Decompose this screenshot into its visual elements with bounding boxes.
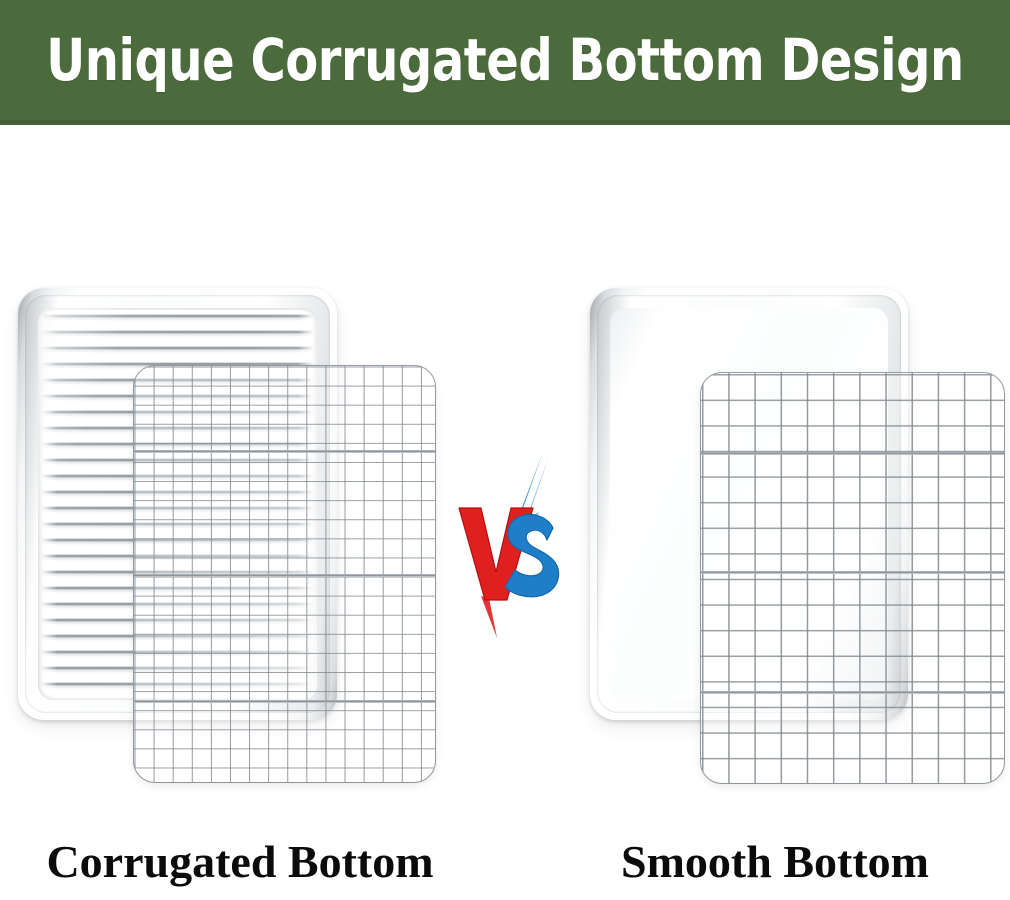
rack-support-bar bbox=[134, 450, 435, 453]
rack-support-bar bbox=[701, 691, 1004, 694]
header-banner: Unique Corrugated Bottom Design bbox=[0, 0, 1010, 125]
rack-mesh-right bbox=[701, 373, 1004, 783]
rack-support-bar bbox=[134, 700, 435, 703]
cooling-rack-fine bbox=[133, 365, 436, 783]
versus-logo bbox=[455, 450, 565, 640]
comparison-stage: Corrugated Bottom Smooth Bottom bbox=[0, 125, 1010, 900]
cooling-rack-coarse bbox=[700, 372, 1005, 784]
rack-support-bar bbox=[134, 574, 435, 577]
rack-support-bar bbox=[701, 452, 1004, 455]
rack-mesh-left bbox=[134, 366, 435, 782]
rack-support-bar bbox=[701, 571, 1004, 574]
page-title: Unique Corrugated Bottom Design bbox=[40, 0, 969, 120]
lightning-bolt-icon bbox=[455, 450, 565, 640]
caption-smooth: Smooth Bottom bbox=[555, 830, 995, 892]
caption-corrugated: Corrugated Bottom bbox=[10, 830, 470, 892]
